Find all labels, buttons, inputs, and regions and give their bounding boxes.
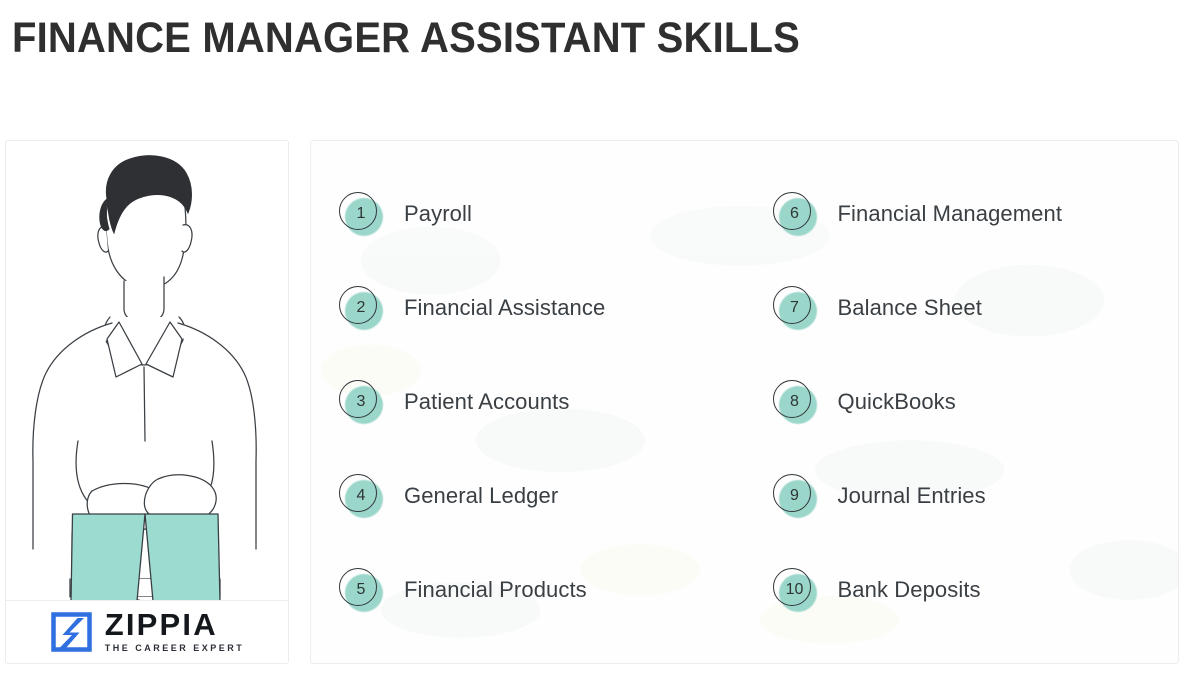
business-man-illustration	[6, 141, 288, 601]
skill-item-10[interactable]: 10 Bank Deposits	[745, 543, 1179, 637]
skill-item-9[interactable]: 9 Journal Entries	[745, 449, 1179, 543]
skill-number: 2	[342, 289, 380, 327]
skill-label: Payroll	[404, 201, 472, 227]
skill-number: 7	[776, 289, 814, 327]
illustration-panel: ZIPPIA THE CAREER EXPERT	[5, 140, 289, 664]
skill-number-badge: 6	[773, 192, 817, 236]
skill-label: Bank Deposits	[838, 577, 981, 603]
skill-label: Balance Sheet	[838, 295, 982, 321]
zippia-logo: ZIPPIA THE CAREER EXPERT	[6, 601, 288, 663]
zippia-z-mark	[50, 610, 94, 654]
skill-item-5[interactable]: 5 Financial Products	[311, 543, 745, 637]
logo-tagline: THE CAREER EXPERT	[105, 642, 245, 655]
skill-number-badge: 7	[773, 286, 817, 330]
skill-label: Financial Products	[404, 577, 587, 603]
skill-item-1[interactable]: 1 Payroll	[311, 167, 745, 261]
skill-label: Financial Assistance	[404, 295, 605, 321]
skill-number: 4	[342, 477, 380, 515]
skill-item-6[interactable]: 6 Financial Management	[745, 167, 1179, 261]
skill-number-badge: 2	[339, 286, 383, 330]
logo-wordmark: ZIPPIA	[105, 609, 218, 641]
skill-number: 1	[342, 195, 380, 233]
skill-number-badge: 3	[339, 380, 383, 424]
skill-item-3[interactable]: 3 Patient Accounts	[311, 355, 745, 449]
skill-item-7[interactable]: 7 Balance Sheet	[745, 261, 1179, 355]
skill-label: Patient Accounts	[404, 389, 569, 415]
skill-item-2[interactable]: 2 Financial Assistance	[311, 261, 745, 355]
skill-number: 5	[342, 571, 380, 609]
skill-number-badge: 10	[773, 568, 817, 612]
skill-number-badge: 8	[773, 380, 817, 424]
skill-label: Financial Management	[838, 201, 1063, 227]
skill-number-badge: 5	[339, 568, 383, 612]
skill-item-8[interactable]: 8 QuickBooks	[745, 355, 1179, 449]
skill-number: 8	[776, 383, 814, 421]
page-title: FINANCE MANAGER ASSISTANT SKILLS	[12, 12, 800, 64]
skill-label: QuickBooks	[838, 389, 956, 415]
skill-number: 10	[776, 571, 814, 609]
skills-list-panel: 1 Payroll 2 Financial Assistance 3 Patie…	[310, 140, 1179, 664]
skill-number-badge: 4	[339, 474, 383, 518]
skill-number: 3	[342, 383, 380, 421]
skill-label: General Ledger	[404, 483, 558, 509]
skill-number-badge: 9	[773, 474, 817, 518]
skill-number-badge: 1	[339, 192, 383, 236]
skill-number: 6	[776, 195, 814, 233]
skills-grid: 1 Payroll 2 Financial Assistance 3 Patie…	[311, 141, 1178, 663]
skill-number: 9	[776, 477, 814, 515]
skill-label: Journal Entries	[838, 483, 986, 509]
skill-item-4[interactable]: 4 General Ledger	[311, 449, 745, 543]
